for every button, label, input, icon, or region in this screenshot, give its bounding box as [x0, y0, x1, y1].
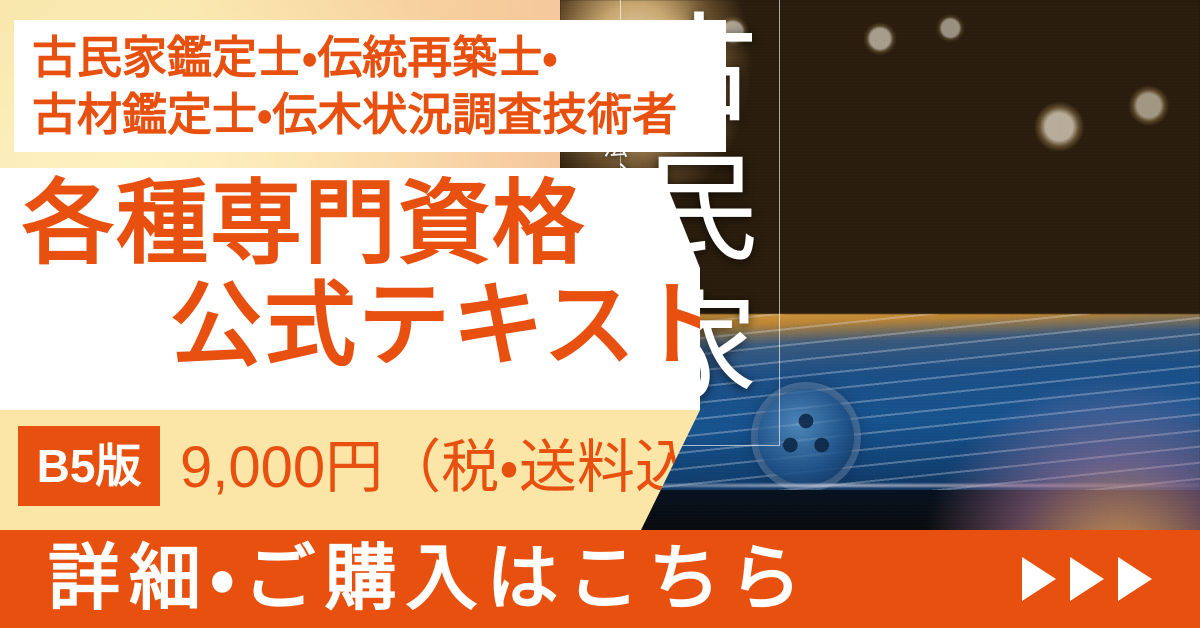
- price-panel: B5版 9,000円（税・送料込）: [0, 410, 700, 532]
- cta-arrow-group: [1022, 557, 1152, 601]
- cta-label: 詳細・ご購入はこちら: [48, 543, 810, 615]
- certifications-panel: 古民家鑑定士・伝統再築士・ 古材鑑定士・伝木状況調査技術者: [14, 20, 726, 152]
- certifications-text: 古民家鑑定士・伝統再築士・ 古材鑑定士・伝木状況調査技術者: [32, 29, 677, 143]
- headline-panel: 各種専門資格 公式テキスト: [0, 168, 700, 410]
- headline-line-2: 公式テキスト: [170, 280, 731, 372]
- format-badge: B5版: [18, 426, 160, 506]
- triangle-right-icon: [1118, 557, 1152, 601]
- format-badge-label: B5版: [37, 443, 142, 489]
- cta-bar[interactable]: 詳細・ご購入はこちら: [0, 530, 1200, 628]
- triangle-right-icon: [1022, 557, 1056, 601]
- headline-line-1: 各種専門資格: [22, 178, 586, 270]
- certifications-line-2: 古材鑑定士・伝木状況調査技術者: [32, 86, 677, 143]
- promo-banner: 古 民 家 伝統構法、古民家活用のための調査と再生の 古民家鑑定士・伝統再築士・…: [0, 0, 1200, 628]
- triangle-right-icon: [1070, 557, 1104, 601]
- certifications-line-1: 古民家鑑定士・伝統再築士・: [32, 29, 677, 86]
